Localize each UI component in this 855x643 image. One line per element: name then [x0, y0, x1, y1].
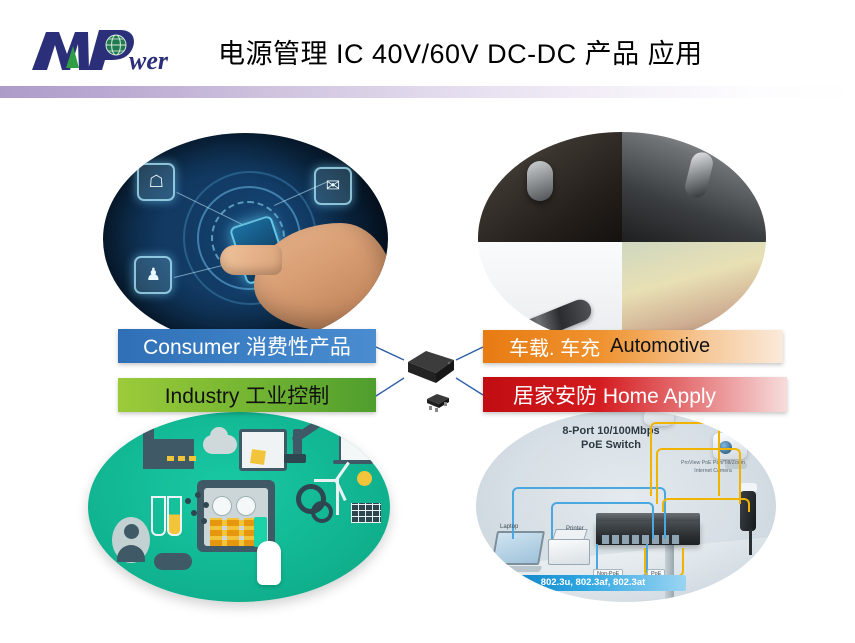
poe-cable — [656, 448, 741, 504]
banner-home-label: 居家安防 Home Apply — [513, 380, 716, 410]
header: wer 电源管理 IC 40V/60V DC-DC 产品 应用 — [0, 0, 855, 88]
car-interior-photo — [478, 132, 622, 242]
turbine-blade — [334, 461, 349, 481]
mail-icon: ✉ — [314, 167, 352, 205]
laptop-stand — [484, 566, 543, 572]
turbine-blade — [314, 479, 336, 482]
finger-graphic — [220, 245, 282, 275]
qfn-package-chip — [404, 348, 456, 388]
gear-shifter-photo — [622, 132, 766, 242]
person-icon: ♟ — [134, 256, 172, 294]
header-gradient-bar — [0, 86, 855, 98]
car-charger-photo — [478, 242, 622, 344]
clock-icon — [236, 496, 256, 516]
automotive-image — [478, 132, 766, 344]
gear-shifter — [527, 161, 553, 201]
non-poe-cable — [551, 502, 654, 539]
bullet-camera-arm — [749, 529, 752, 555]
svg-text:wer: wer — [129, 46, 169, 75]
test-tube-filled-icon — [167, 496, 182, 536]
laptop-label: Laptop — [497, 523, 521, 531]
banner-home[interactable]: 居家安防 Home Apply — [483, 377, 787, 412]
cube-icon — [250, 449, 266, 465]
banner-automotive[interactable]: 车载. 车充 Automotive — [483, 330, 783, 363]
vr-headset-icon — [154, 553, 192, 570]
consumer-image: ☖ ✉ ♟ — [103, 133, 388, 345]
pointer-hand-icon — [257, 541, 281, 585]
laptop-base — [333, 460, 373, 464]
solar-panel-icon — [351, 503, 381, 523]
robot-base — [284, 454, 306, 463]
slide-root: wer 电源管理 IC 40V/60V DC-DC 产品 应用 ☖ ✉ ♟ — [0, 0, 855, 643]
printer-device — [548, 539, 590, 565]
laptop-icon — [339, 435, 377, 462]
banner-consumer[interactable]: Consumer 消费性产品 — [118, 329, 376, 363]
sot-package-chip — [424, 392, 452, 412]
gear-small-icon — [311, 501, 333, 523]
test-tube-icon — [151, 496, 166, 536]
poe-cable — [662, 498, 750, 512]
banner-automotive-label-en: Automotive — [610, 335, 710, 358]
mpower-logo-svg: wer — [26, 24, 206, 76]
industry-image — [88, 412, 390, 602]
driver-photo — [622, 242, 766, 344]
factory-icon — [154, 439, 194, 469]
mpower-logo: wer — [26, 24, 206, 76]
banner-industry-label: Industry 工业控制 — [165, 380, 330, 410]
banner-industry[interactable]: Industry 工业控制 — [118, 378, 376, 412]
factory-stripe — [167, 456, 197, 461]
poe-switch-image: 8-Port 10/100Mbps PoE Switch ProView PoE… — [476, 410, 776, 602]
gear-lever — [683, 150, 715, 200]
banner-consumer-label: Consumer 消费性产品 — [143, 331, 351, 361]
cloud-icon — [203, 435, 237, 454]
printer-label: Printer — [563, 525, 587, 533]
molecule-icon — [185, 492, 211, 526]
page-title: 电源管理 IC 40V/60V DC-DC 产品 应用 — [218, 32, 703, 71]
banner-automotive-label-cn: 车载. 车充 — [509, 332, 600, 361]
sun-icon — [357, 471, 372, 486]
gauge-icon — [212, 496, 232, 516]
home-icon: ☖ — [137, 163, 175, 201]
standards-banner: 802.3u, 802.3af, 802.3at — [500, 575, 686, 591]
